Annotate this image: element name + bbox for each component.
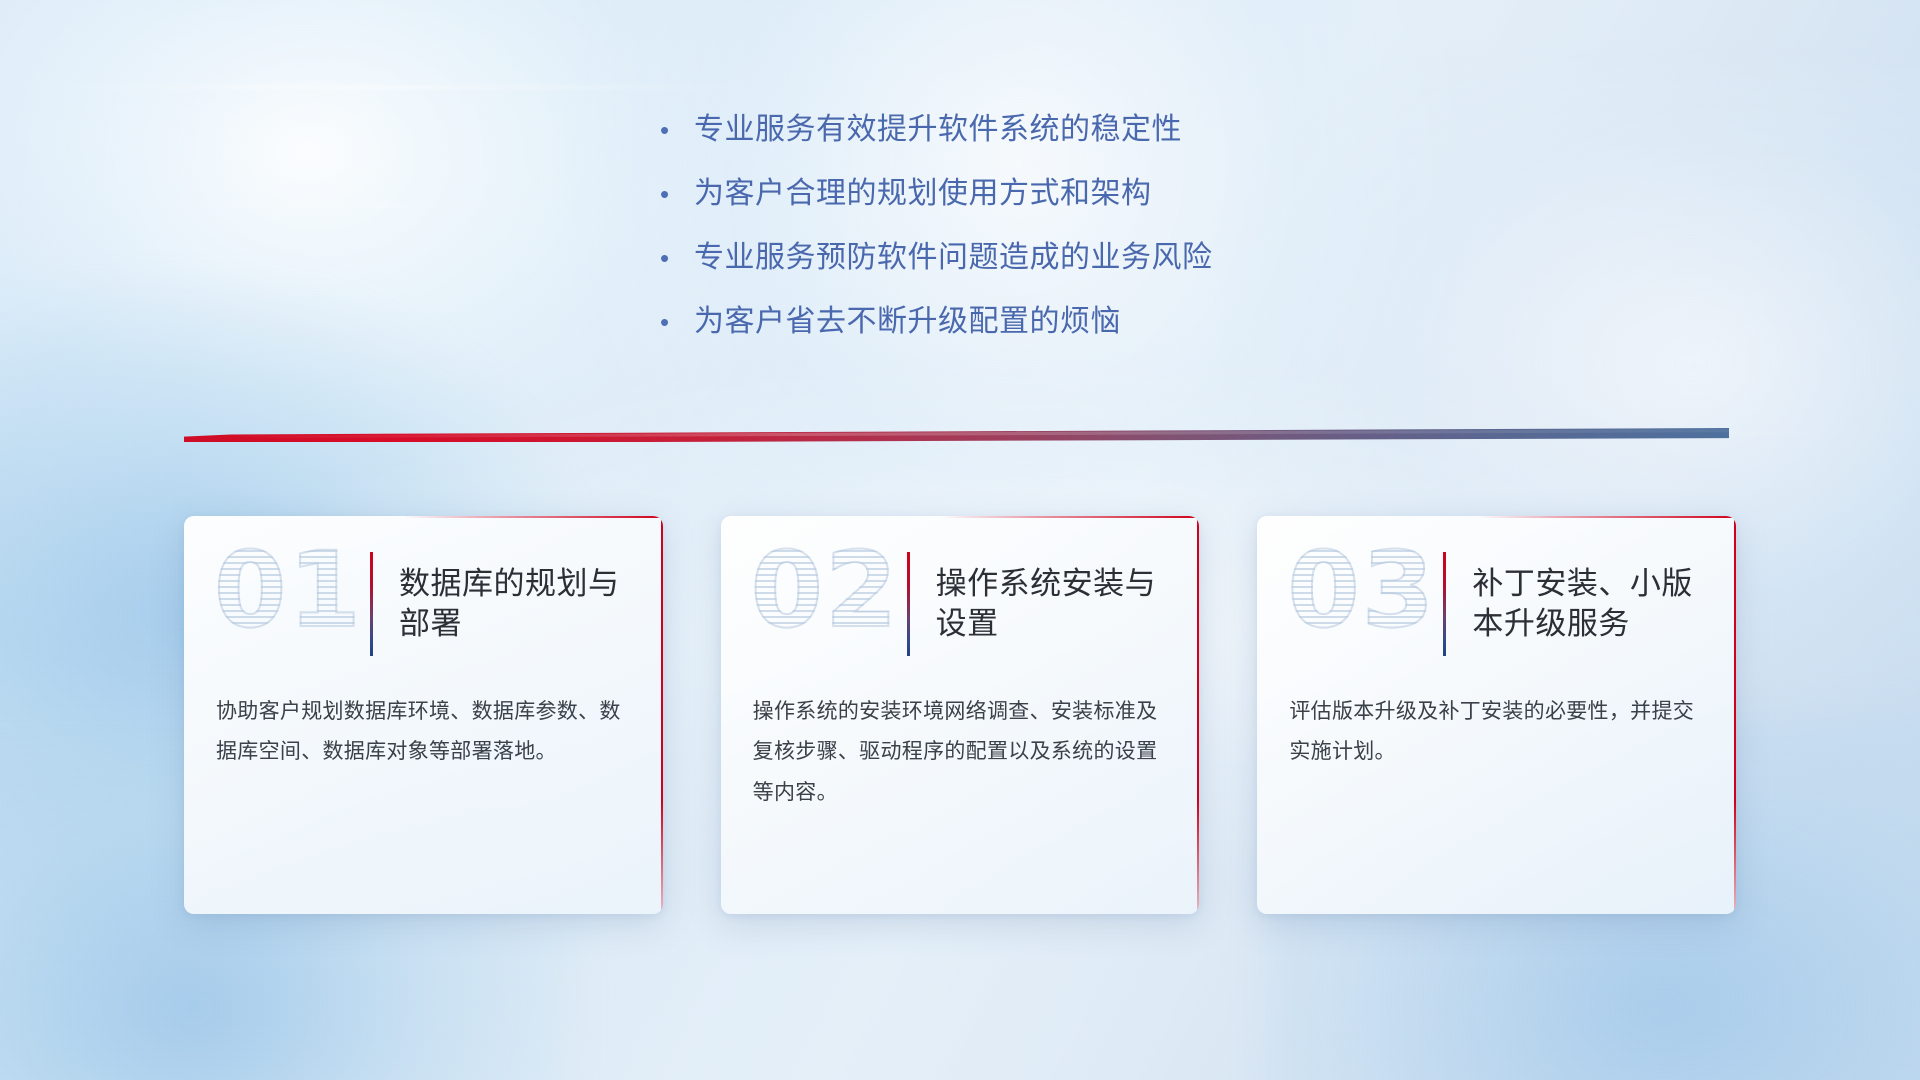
card-number-watermark: 01 bbox=[214, 544, 366, 664]
card-title-divider-icon bbox=[1443, 552, 1446, 656]
card-title: 操作系统安装与设置 bbox=[936, 564, 1186, 645]
card-title: 补丁安装、小版本升级服务 bbox=[1472, 564, 1722, 645]
bullet-item: • 专业服务有效提升软件系统的稳定性 bbox=[660, 112, 1213, 148]
bullet-marker-icon: • bbox=[660, 181, 694, 207]
card-header: 01 数据库的规划与部署 bbox=[184, 516, 663, 692]
bullet-item-text: 为客户合理的规划使用方式和架构 bbox=[694, 176, 1152, 212]
bullet-item: • 为客户省去不断升级配置的烦恼 bbox=[660, 304, 1213, 340]
service-card[interactable]: 03 补丁安装、小版本升级服务 评估版本升级及补丁安装的必要性，并提交实施计划。 bbox=[1257, 516, 1736, 914]
card-title: 数据库的规划与部署 bbox=[399, 564, 649, 645]
card-number-watermark: 02 bbox=[751, 544, 903, 664]
card-title-divider-icon bbox=[907, 552, 910, 656]
card-header: 03 补丁安装、小版本升级服务 bbox=[1257, 516, 1736, 692]
card-number-watermark: 03 bbox=[1287, 544, 1439, 664]
card-number-text: 03 bbox=[1287, 538, 1436, 642]
bullet-item-text: 专业服务预防软件问题造成的业务风险 bbox=[694, 240, 1213, 276]
card-title-divider-icon bbox=[370, 552, 373, 656]
bullet-marker-icon: • bbox=[660, 309, 694, 335]
bullet-marker-icon: • bbox=[660, 117, 694, 143]
card-description: 评估版本升级及补丁安装的必要性，并提交实施计划。 bbox=[1257, 692, 1736, 773]
bullet-item: • 为客户合理的规划使用方式和架构 bbox=[660, 176, 1213, 212]
bullet-item-text: 专业服务有效提升软件系统的稳定性 bbox=[694, 112, 1182, 148]
card-description: 操作系统的安装环境网络调查、安装标准及复核步骤、驱动程序的配置以及系统的设置等内… bbox=[721, 692, 1200, 813]
card-number-text: 01 bbox=[214, 538, 363, 642]
service-card[interactable]: 02 操作系统安装与设置 操作系统的安装环境网络调查、安装标准及复核步骤、驱动程… bbox=[721, 516, 1200, 914]
service-card[interactable]: 01 数据库的规划与部署 协助客户规划数据库环境、数据库参数、数据库空间、数据库… bbox=[184, 516, 663, 914]
card-header: 02 操作系统安装与设置 bbox=[721, 516, 1200, 692]
bullet-item: • 专业服务预防软件问题造成的业务风险 bbox=[660, 240, 1213, 276]
service-card-row: 01 数据库的规划与部署 协助客户规划数据库环境、数据库参数、数据库空间、数据库… bbox=[184, 516, 1736, 914]
section-divider bbox=[184, 428, 1729, 442]
bullet-item-text: 为客户省去不断升级配置的烦恼 bbox=[694, 304, 1121, 340]
benefits-bullet-list: • 专业服务有效提升软件系统的稳定性 • 为客户合理的规划使用方式和架构 • 专… bbox=[660, 112, 1213, 368]
bullet-marker-icon: • bbox=[660, 245, 694, 271]
card-number-text: 02 bbox=[751, 538, 900, 642]
slide-stage: • 专业服务有效提升软件系统的稳定性 • 为客户合理的规划使用方式和架构 • 专… bbox=[0, 0, 1920, 1080]
card-description: 协助客户规划数据库环境、数据库参数、数据库空间、数据库对象等部署落地。 bbox=[184, 692, 663, 773]
